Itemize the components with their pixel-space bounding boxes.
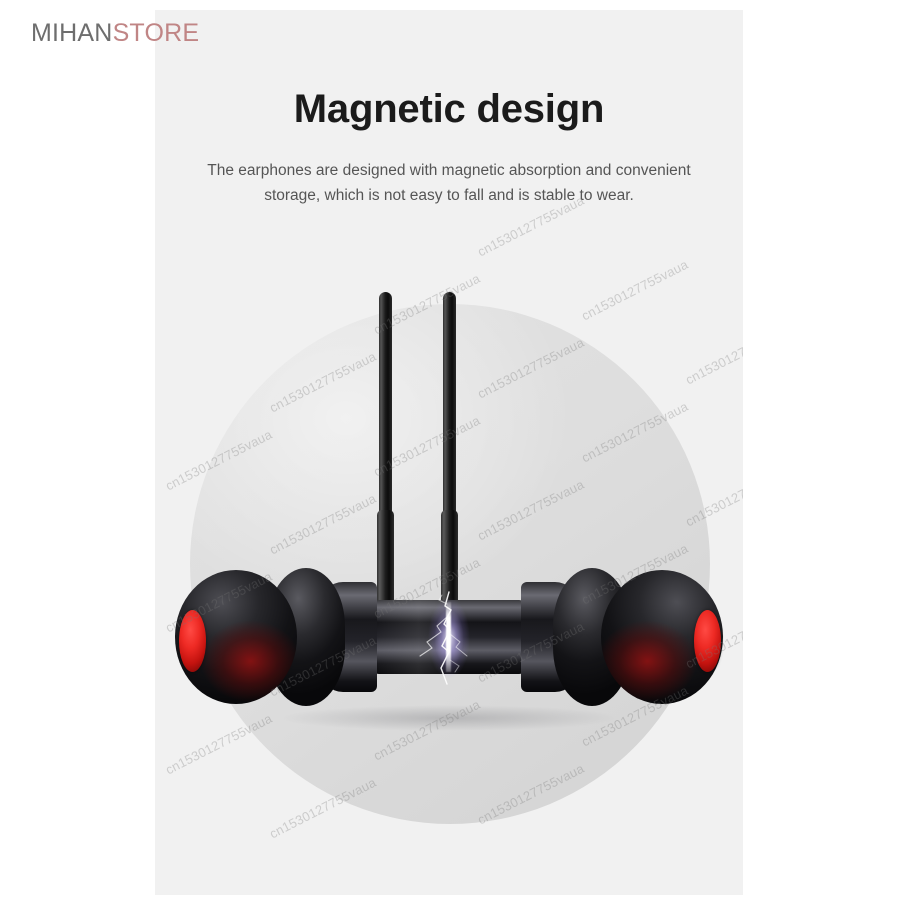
- sound-nozzle-left: [179, 610, 206, 672]
- brand-logo-primary: MIHAN: [31, 19, 113, 47]
- earphone-cable-right: [443, 292, 456, 520]
- brand-logo-secondary: STORE: [113, 19, 200, 47]
- content-panel: Magnetic design The earphones are design…: [155, 10, 743, 895]
- product-image: [155, 282, 743, 842]
- magnetic-barrel: [373, 600, 525, 674]
- page-subtitle: The earphones are designed with magnetic…: [199, 158, 699, 208]
- page-title: Magnetic design: [155, 86, 743, 132]
- product-detail-page: MIHANSTORE Magnetic design The earphones…: [0, 0, 900, 900]
- cable-strain-relief-left: [377, 510, 394, 608]
- cable-strain-relief-right: [441, 510, 458, 608]
- sound-nozzle-right: [694, 610, 721, 672]
- heading-block: Magnetic design The earphones are design…: [155, 86, 743, 208]
- earphone-cable-left: [379, 292, 392, 520]
- brand-logo: MIHANSTORE: [31, 21, 199, 46]
